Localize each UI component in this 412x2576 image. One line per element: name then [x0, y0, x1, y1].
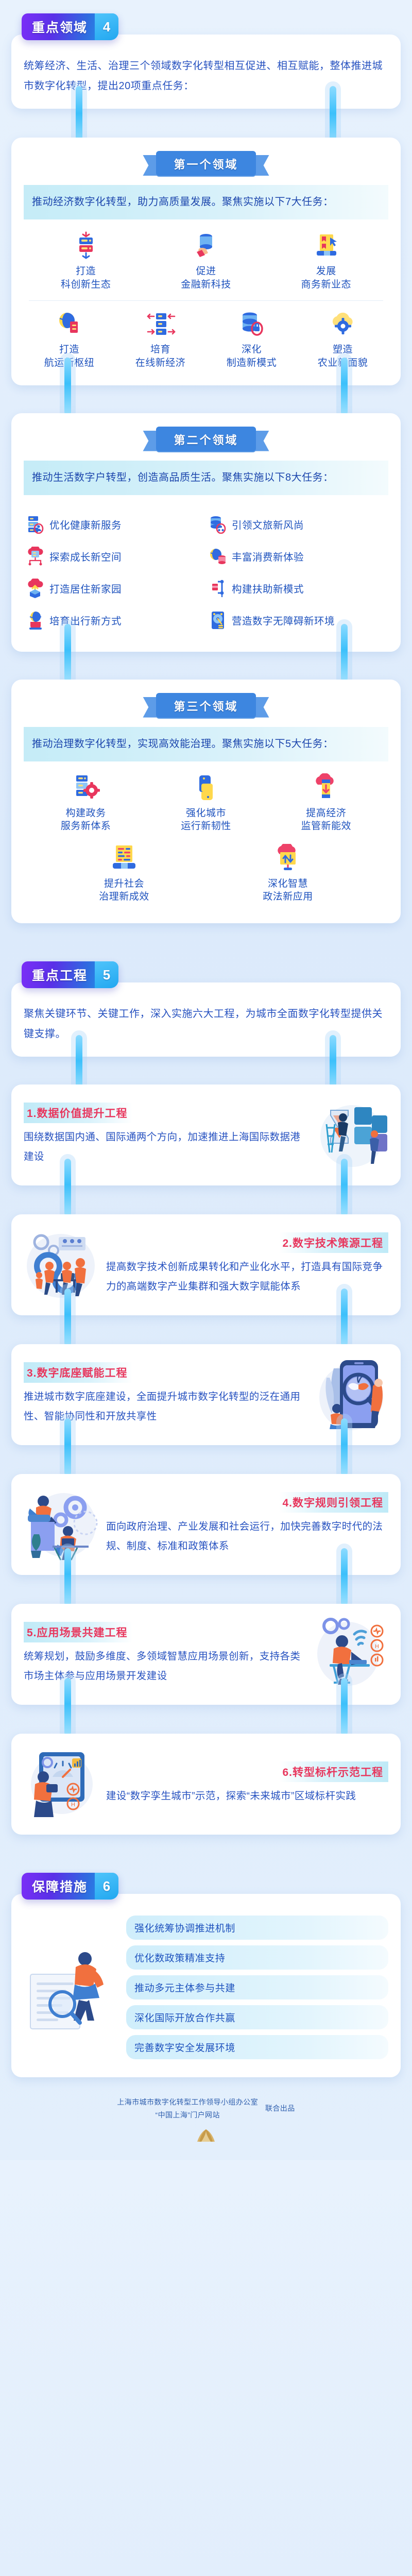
task-item[interactable]: 引领文旅新风尚 [206, 509, 388, 540]
domain-2-intro-text: 推动生活数字户转型，创造高品质生活。聚焦实施以下8大任务： [32, 468, 380, 488]
node-link-icon [209, 579, 227, 598]
project-card-3: 3.数字底座赋能工程 推进城市数字底座建设，全面提升城市数字化转型的泛在通用性、… [11, 1344, 401, 1445]
task-item[interactable]: 强化城市 运行新韧性 [163, 773, 249, 833]
domain-card-1: 第一个领域 推动经济数字化转型，助力高质量发展。聚焦实施以下7大任务： [11, 138, 401, 385]
task-item[interactable]: 营造数字无障碍新环境 [206, 604, 388, 636]
task-item[interactable]: 优化健康新服务 [24, 509, 206, 540]
task-item[interactable]: 构建政务 服务新体系 [43, 773, 129, 833]
domain-ribbon-label: 第一个领域 [156, 151, 255, 177]
project-title: 1.数据价值提升工程 [24, 1103, 133, 1123]
safeguard-item[interactable]: 强化统筹协调推进机制 [126, 1916, 388, 1940]
domain-3-tasks-row-2: 提升社会 治理新成效 深化智慧 政法新应用 [24, 840, 388, 911]
key-areas-intro-card: 统筹经济、生活、治理三个领域数字化转型相互促进、相互赋能，整体推进城市数字化转型… [11, 35, 401, 109]
domain-ribbon-label: 第二个领域 [156, 427, 255, 452]
puzzle-hourglass-illustration [311, 1096, 388, 1173]
task-label: 打造居住新家园 [49, 581, 122, 596]
project-row: 6.转型标杆示范工程 建设“数字孪生城市”示范，探索“未来城市”区域标杆实践 [24, 1745, 388, 1822]
cloud-sync-icon [245, 843, 331, 873]
project-card-2: 2.数字技术策源工程 提高数字技术创新成果转化和产业化水平，打造具有国际竞争力的… [11, 1214, 401, 1315]
task-noun: 监管新能效 [283, 820, 369, 833]
domain-1-intro-text: 推动经济数字化转型，助力高质量发展。聚焦实施以下7大任务： [32, 192, 380, 212]
task-verb: 构建政务 [43, 807, 129, 820]
footer-line-1: 上海市城市数字化转型工作领导小组办公室 [117, 2096, 258, 2109]
connector-rail-right [341, 1418, 348, 1476]
domain-card-2: 第二个领域 推动生活数字户转型，创造高品质生活。聚焦实施以下8大任务： [11, 413, 401, 652]
task-label: 探索成长新空间 [49, 549, 122, 564]
connector-rail-left [64, 1289, 71, 1346]
section-title: 重点工程 [22, 961, 95, 988]
connector-rail-left [64, 624, 71, 682]
connector-rail-left [64, 1159, 71, 1216]
globe-database-icon [209, 547, 227, 566]
cloud-download-icon [283, 773, 369, 803]
server-exchange-icon [117, 309, 204, 339]
disk-key-icon [209, 611, 227, 630]
task-item[interactable]: 发展 商务新业态 [283, 231, 369, 291]
server-user-icon [27, 515, 44, 534]
project-card-1: 1.数据价值提升工程 围绕数据国内通、国际通两个方向，加速推进上海国际数据港建设 [11, 1084, 401, 1185]
phone-magnifier-illustration [311, 1355, 388, 1433]
connector-rail-right [341, 1678, 348, 1736]
project-title: 2.数字技术策源工程 [279, 1232, 388, 1253]
infographic-page: 重点领域 4 统筹经济、生活、治理三个领域数字化转型相互促进、相互赋能，整体推进… [0, 0, 412, 2160]
hand-database-icon [163, 231, 249, 261]
task-label: 丰富消费新体验 [232, 549, 304, 564]
task-noun: 治理新成效 [81, 890, 167, 904]
task-label: 构建扶助新模式 [232, 581, 304, 596]
domain-ribbon-label: 第三个领域 [156, 693, 255, 719]
domain-3-intro-band: 推动治理数字化转型，实现高效能治理。聚焦实施以下5大任务： [24, 727, 388, 761]
domain-1-tasks-row-1: 打造 科创新生态 促进 金融新科技 [24, 228, 388, 298]
globe-document-icon [26, 309, 113, 339]
footer-line-2: “中国上海”门户网站 [117, 2109, 258, 2122]
connector-rail-left [64, 1418, 71, 1476]
task-verb: 打造 [26, 343, 113, 357]
task-item[interactable]: 打造 科创新生态 [43, 231, 129, 291]
connector-rail-right [341, 1548, 348, 1606]
safeguard-item[interactable]: 深化国际开放合作共赢 [126, 2005, 388, 2029]
cloud-gear-icon [299, 309, 387, 339]
database-lock-icon [208, 309, 296, 339]
section-title: 保障措施 [22, 1873, 95, 1900]
domain-card-3: 第三个领域 推动治理数字化转型，实现高效能治理。聚焦实施以下5大任务： [11, 680, 401, 924]
task-verb: 促进 [163, 265, 249, 278]
project-row: 3.数字底座赋能工程 推进城市数字底座建设，全面提升城市数字化转型的泛在通用性、… [24, 1355, 388, 1433]
footer-line-3: 联合出品 [265, 2102, 295, 2115]
globe-shield-icon [27, 611, 44, 630]
page-footer: 上海市城市数字化转型工作领导小组办公室 “中国上海”门户网站 联合出品 [0, 2089, 412, 2155]
safeguard-item[interactable]: 完善数字安全发展环境 [126, 2035, 388, 2059]
domain-ribbon-1: 第一个领域 [24, 151, 388, 177]
server-gear-icon [43, 773, 129, 803]
safeguards-row: 强化统筹协调推进机制 优化数政策精准支持 推动多元主体参与共建 深化国际开放合作… [24, 1916, 388, 2065]
connector-rail-right [341, 1159, 348, 1216]
project-title: 3.数字底座赋能工程 [24, 1362, 133, 1383]
task-verb: 提高经济 [283, 807, 369, 820]
svg-text:H: H [71, 1802, 75, 1808]
task-label: 培育出行新方式 [49, 613, 122, 628]
task-item[interactable]: 构建扶助新模式 [206, 572, 388, 604]
python-blocks-icon [163, 773, 249, 803]
task-item[interactable]: 丰富消费新体验 [206, 540, 388, 572]
folder-cursor-icon [283, 231, 369, 261]
domain-3-tasks-row-1: 构建政务 服务新体系 强化城市 运行新韧性 [24, 770, 388, 840]
task-item[interactable]: 打造居住新家园 [24, 572, 206, 604]
task-item[interactable]: 深化 制造新模式 [208, 309, 296, 369]
project-card-6: 6.转型标杆示范工程 建设“数字孪生城市”示范，探索“未来城市”区域标杆实践 [11, 1734, 401, 1835]
task-noun: 商务新业态 [283, 278, 369, 292]
task-noun: 运行新韧性 [163, 820, 249, 833]
domain-1-tasks-row-2: 打造 航运新枢纽 [24, 303, 388, 372]
connector-rail-left [64, 1548, 71, 1606]
domain-ribbon-2: 第二个领域 [24, 427, 388, 452]
project-row: 2.数字技术策源工程 提高数字技术创新成果转化和产业化水平，打造具有国际竞争力的… [24, 1226, 388, 1303]
cloud-upload-icon [27, 579, 44, 598]
project-title: 5.应用场景共建工程 [24, 1622, 133, 1642]
project-card-5: 5.应用场景共建工程 统筹规划，鼓励多维度、多领域智慧应用场景创新，支持各类市场… [11, 1604, 401, 1705]
section-number-badge: 5 [95, 961, 118, 988]
task-verb: 提升社会 [81, 877, 167, 891]
task-label: 营造数字无障碍新环境 [232, 613, 335, 628]
task-label: 优化健康新服务 [49, 517, 122, 532]
section-number-badge: 6 [95, 1873, 118, 1900]
tablet-dashboard-illustration: H [24, 1745, 101, 1822]
connector-rail-left [64, 358, 71, 415]
domain-ribbon-3: 第三个领域 [24, 693, 388, 719]
gears-workers-illustration [24, 1485, 101, 1563]
task-verb: 深化智慧 [245, 877, 331, 891]
shanghai-emblem-logo [194, 2126, 218, 2144]
person-documents-illustration [24, 1945, 119, 2036]
task-row-divider [29, 300, 383, 301]
safeguards-card: 强化统筹协调推进机制 优化数政策精准支持 推动多元主体参与共建 深化国际开放合作… [11, 1894, 401, 2077]
project-row: 4.数字规则引领工程 面向政府治理、产业发展和社会运行，加快完善数字时代的法规、… [24, 1485, 388, 1563]
task-item[interactable]: 培育 在线新经济 [117, 309, 204, 369]
svg-text:H: H [375, 1643, 379, 1650]
cloud-network-icon [27, 547, 44, 566]
domain-1-intro-band: 推动经济数字化转型，助力高质量发展。聚焦实施以下7大任务： [24, 185, 388, 219]
safeguard-item[interactable]: 推动多元主体参与共建 [126, 1975, 388, 1999]
task-item[interactable]: 深化智慧 政法新应用 [245, 843, 331, 904]
project-title: 4.数字规则引领工程 [279, 1492, 388, 1513]
section-header-safeguards: 保障措施 6 [22, 1873, 118, 1900]
task-noun: 金融新科技 [163, 278, 249, 292]
connector-rail-right [341, 1289, 348, 1346]
task-item[interactable]: 促进 金融新科技 [163, 231, 249, 291]
task-noun: 政法新应用 [245, 890, 331, 904]
task-noun: 服务新体系 [43, 820, 129, 833]
project-title: 6.转型标杆示范工程 [279, 1761, 388, 1782]
section-header-key-areas: 重点领域 4 [22, 13, 118, 40]
database-share-icon [209, 515, 227, 534]
domain-2-task-list: 优化健康新服务 引领文旅新风尚 [24, 503, 388, 639]
connector-rail-left [64, 1678, 71, 1736]
safeguard-item[interactable]: 优化数政策精准支持 [126, 1945, 388, 1970]
desk-wifi-illustration: H [311, 1615, 388, 1692]
section-header-key-projects: 重点工程 5 [22, 961, 118, 988]
task-noun: 制造新模式 [208, 357, 296, 370]
laptop-list-icon [81, 843, 167, 873]
domain-3-intro-text: 推动治理数字化转型，实现高效能治理。聚焦实施以下5大任务： [32, 734, 380, 754]
task-noun: 科创新生态 [43, 278, 129, 292]
key-projects-intro-card: 聚焦关键环节、关键工作，深入实施六大工程，为城市全面数字化转型提供关键支撑。 [11, 982, 401, 1057]
project-body: 建设“数字孪生城市”示范，探索“未来城市”区域标杆实践 [106, 1786, 388, 1806]
task-item[interactable]: 提高经济 监管新能效 [283, 773, 369, 833]
task-verb: 塑造 [299, 343, 387, 357]
task-verb: 培育 [117, 343, 204, 357]
safeguards-list: 强化统筹协调推进机制 优化数政策精准支持 推动多元主体参与共建 深化国际开放合作… [126, 1916, 388, 2065]
task-noun: 在线新经济 [117, 357, 204, 370]
section-number-badge: 4 [95, 13, 118, 40]
project-row: 1.数据价值提升工程 围绕数据国内通、国际通两个方向，加速推进上海国际数据港建设 [24, 1096, 388, 1173]
section-title: 重点领域 [22, 13, 95, 40]
task-verb: 发展 [283, 265, 369, 278]
task-item[interactable]: 培育出行新方式 [24, 604, 206, 636]
project-card-4: 4.数字规则引领工程 面向政府治理、产业发展和社会运行，加快完善数字时代的法规、… [11, 1474, 401, 1575]
task-verb: 强化城市 [163, 807, 249, 820]
task-label: 引领文旅新风尚 [232, 517, 304, 532]
domain-2-intro-band: 推动生活数字户转型，创造高品质生活。聚焦实施以下8大任务： [24, 461, 388, 495]
task-verb: 打造 [43, 265, 129, 278]
task-item[interactable]: 提升社会 治理新成效 [81, 843, 167, 904]
project-row: 5.应用场景共建工程 统筹规划，鼓励多维度、多领域智慧应用场景创新，支持各类市场… [24, 1615, 388, 1692]
connector-rail-right [341, 624, 348, 682]
connector-rail-right [341, 358, 348, 415]
server-transfer-icon [43, 231, 129, 261]
team-infinity-illustration [24, 1226, 101, 1303]
task-item[interactable]: 探索成长新空间 [24, 540, 206, 572]
task-verb: 深化 [208, 343, 296, 357]
